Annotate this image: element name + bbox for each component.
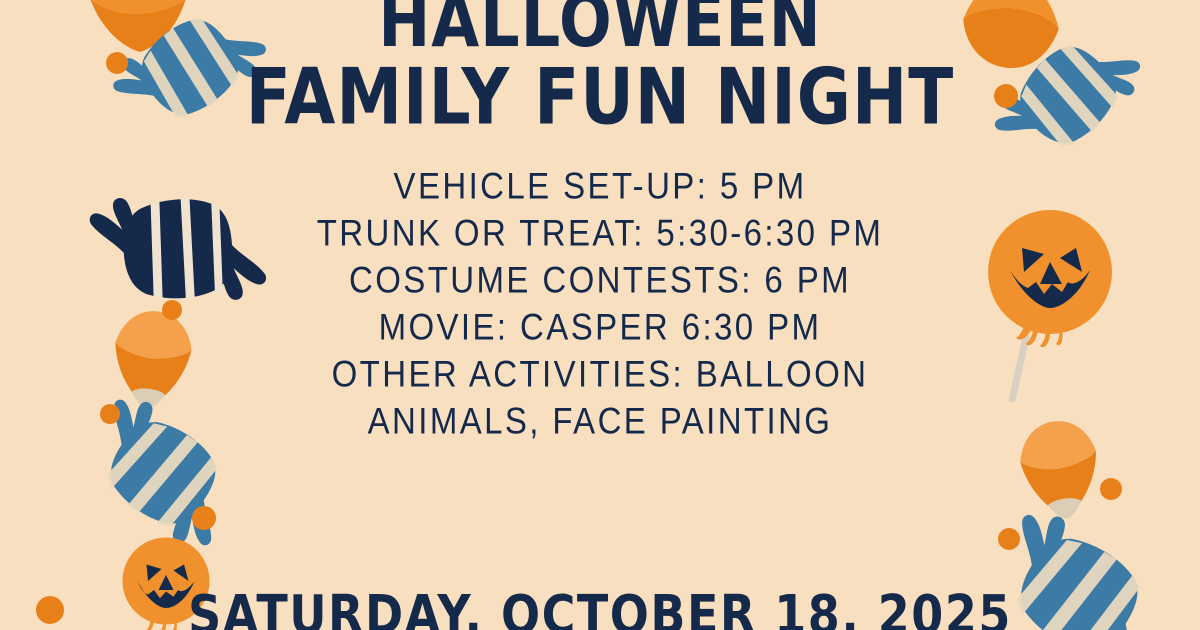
schedule-list: VEHICLE SET-UP: 5 PM TRUNK OR TREAT: 5:3… [0, 167, 1200, 440]
schedule-item-trunk-or-treat: TRUNK OR TREAT: 5:30-6:30 PM [317, 212, 884, 255]
title-line-family-fun-night: FAMILY FUN NIGHT [0, 60, 1200, 135]
schedule-item-vehicle-set-up: VEHICLE SET-UP: 5 PM [394, 165, 807, 208]
poster-title: HALLOWEEN FAMILY FUN NIGHT [0, 0, 1200, 123]
schedule-item-other-activities-cont: ANIMALS, FACE PAINTING [368, 400, 833, 443]
schedule-item-movie: MOVIE: CASPER 6:30 PM [379, 306, 822, 349]
schedule-item-other-activities: OTHER ACTIVITIES: BALLOON [332, 353, 869, 396]
halloween-family-fun-night-poster: HALLOWEEN FAMILY FUN NIGHT VEHICLE SET-U… [0, 0, 1200, 630]
poster-content: HALLOWEEN FAMILY FUN NIGHT VEHICLE SET-U… [0, 0, 1200, 630]
title-line-halloween: HALLOWEEN [0, 0, 1200, 56]
schedule-item-costume-contests: COSTUME CONTESTS: 6 PM [349, 259, 851, 302]
event-date: SATURDAY, OCTOBER 18, 2025 [0, 583, 1200, 630]
